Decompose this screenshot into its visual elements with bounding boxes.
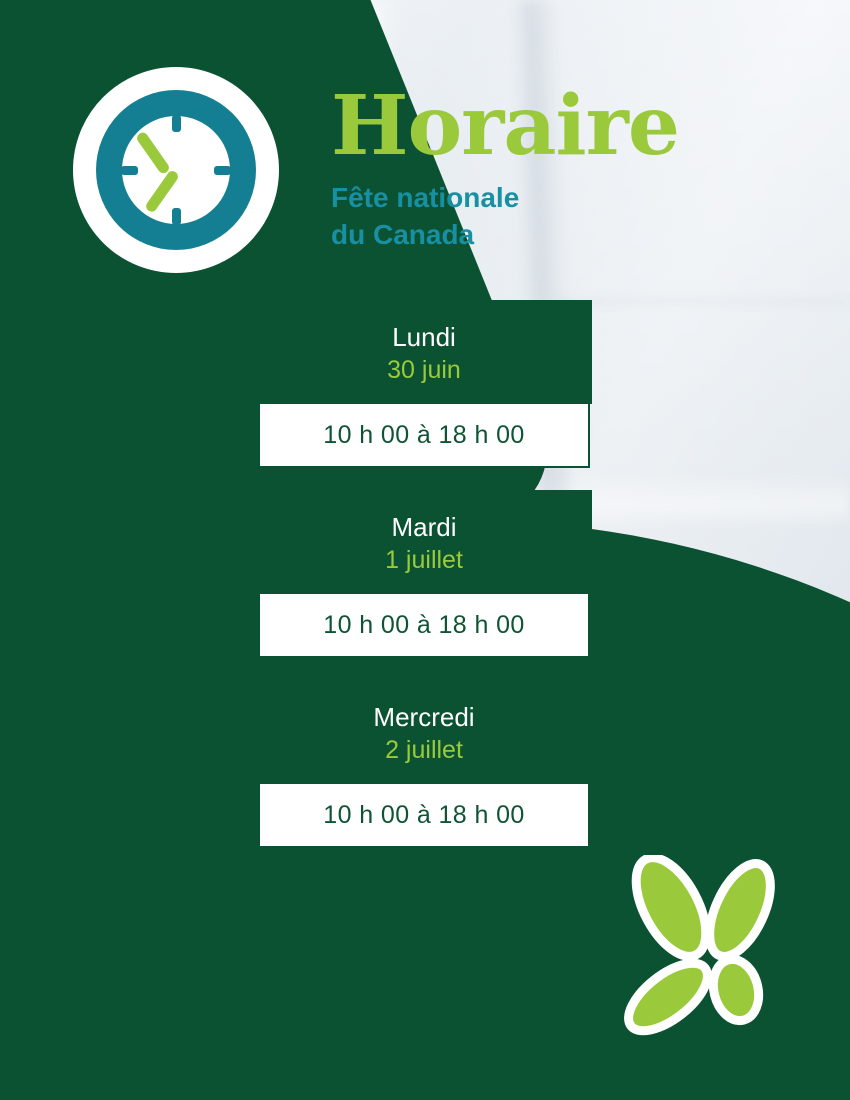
schedule-day-label: Mardi bbox=[266, 512, 582, 543]
clock-icon bbox=[70, 64, 282, 276]
schedule-card: Mercredi 2 juillet 10 h 00 à 18 h 00 bbox=[256, 680, 592, 848]
clock-tick-3-icon bbox=[214, 166, 231, 175]
schedule-day-label: Lundi bbox=[266, 322, 582, 353]
heading-block: Horaire Fête nationale du Canada bbox=[331, 88, 751, 254]
schedule-day-label: Mercredi bbox=[266, 702, 582, 733]
schedule-card-header: Mardi 1 juillet bbox=[256, 490, 592, 594]
schedule-card-body: 10 h 00 à 18 h 00 bbox=[258, 594, 590, 658]
schedule-hours-label: 10 h 00 à 18 h 00 bbox=[266, 611, 582, 640]
schedule-card-header: Mercredi 2 juillet bbox=[256, 680, 592, 784]
schedule-hours-label: 10 h 00 à 18 h 00 bbox=[266, 421, 582, 450]
schedule-hours-label: 10 h 00 à 18 h 00 bbox=[266, 801, 582, 830]
schedule-date-label: 30 juin bbox=[266, 355, 582, 386]
schedule-card-body: 10 h 00 à 18 h 00 bbox=[258, 404, 590, 468]
schedule-card: Lundi 30 juin 10 h 00 à 18 h 00 bbox=[256, 300, 592, 468]
clock-face bbox=[122, 116, 230, 224]
schedule-date-label: 2 juillet bbox=[266, 735, 582, 766]
clock-tick-9-icon bbox=[121, 166, 138, 175]
clock-tick-12-icon bbox=[172, 115, 181, 132]
schedule-card-body: 10 h 00 à 18 h 00 bbox=[258, 784, 590, 848]
page-title: Horaire bbox=[331, 88, 751, 166]
butterfly-leaf-logo-icon bbox=[618, 855, 796, 1055]
clock-tick-6-icon bbox=[172, 208, 181, 225]
clock-teal-ring bbox=[96, 90, 256, 250]
schedule-card-header: Lundi 30 juin bbox=[256, 300, 592, 404]
schedule-card: Mardi 1 juillet 10 h 00 à 18 h 00 bbox=[256, 490, 592, 658]
page-subtitle: Fête nationale du Canada bbox=[331, 180, 751, 254]
schedule-list: Lundi 30 juin 10 h 00 à 18 h 00 Mardi 1 … bbox=[256, 300, 592, 850]
clock-hand-minute-icon bbox=[135, 130, 171, 175]
poster-canvas: Horaire Fête nationale du Canada Lundi 3… bbox=[0, 0, 850, 1100]
schedule-date-label: 1 juillet bbox=[266, 545, 582, 576]
